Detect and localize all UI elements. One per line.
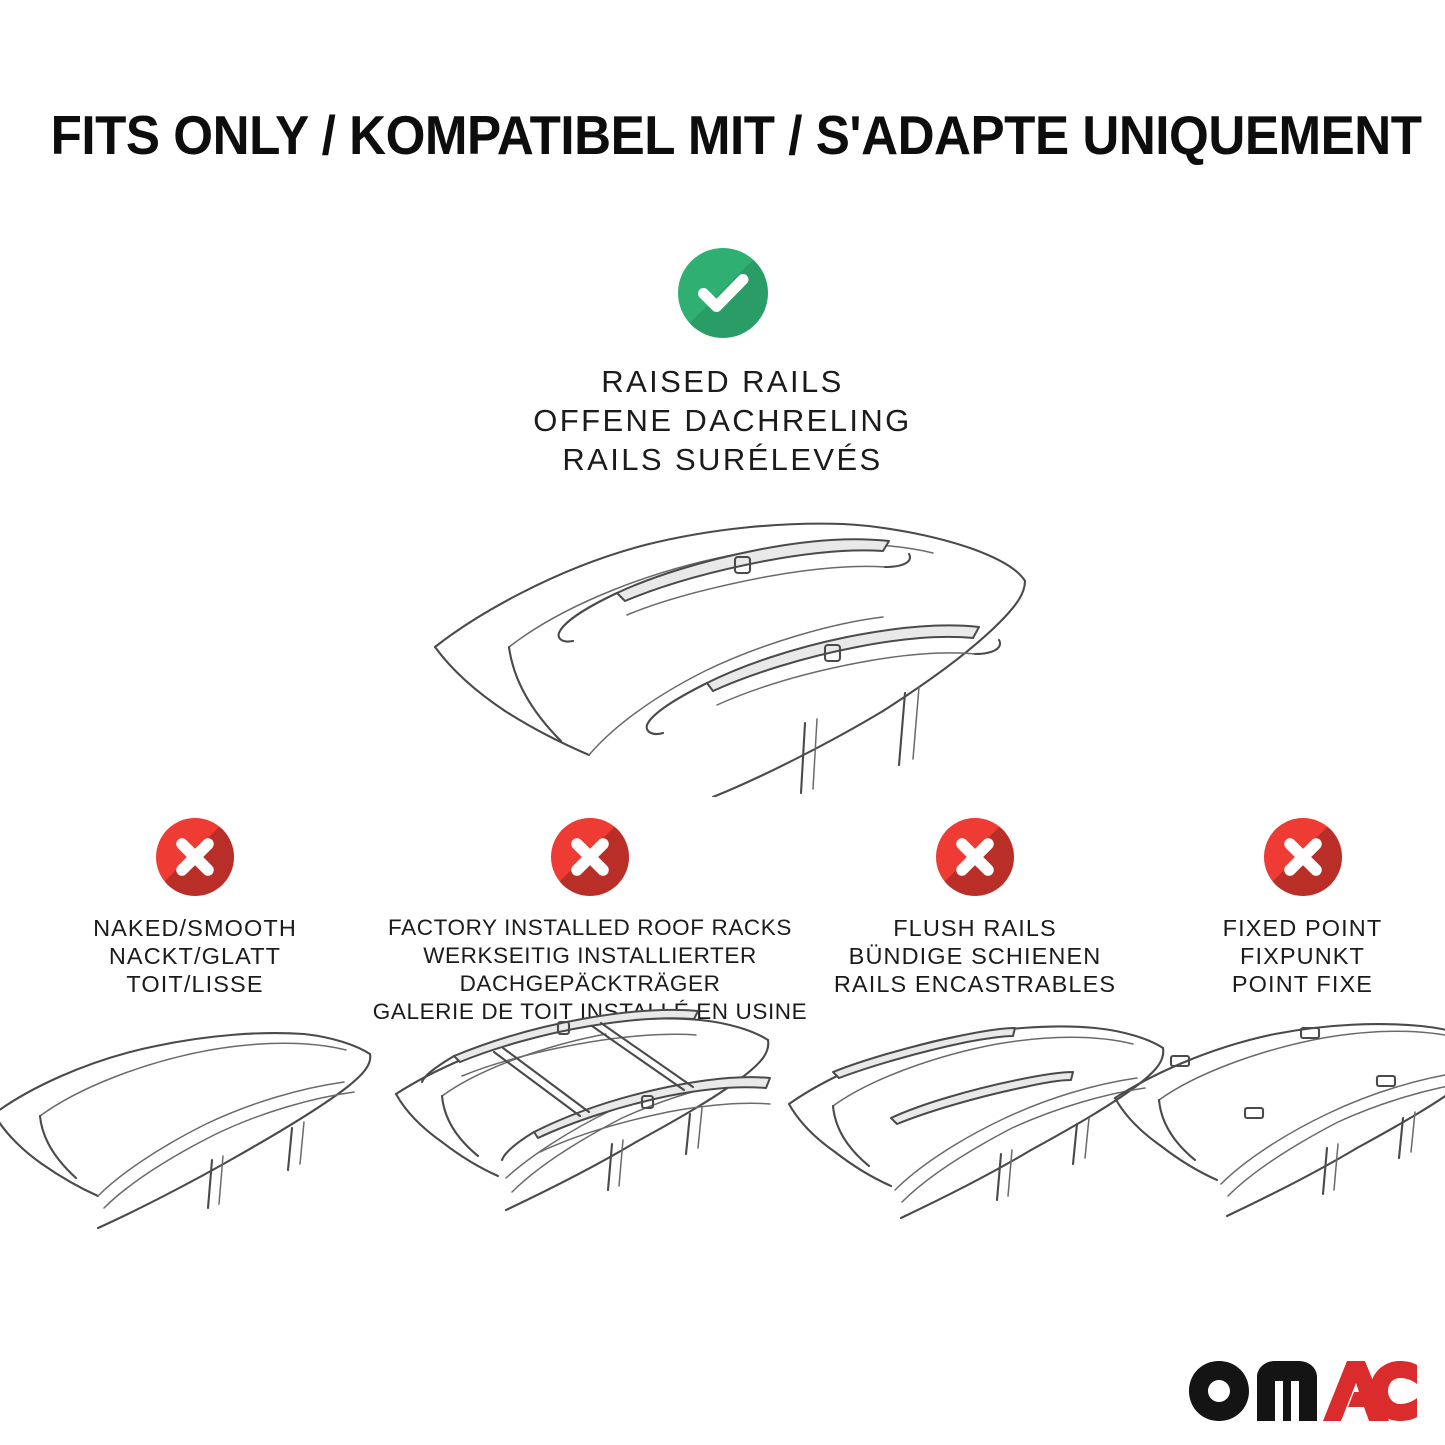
x-mark-glyph — [156, 818, 234, 896]
omac-logo-mark — [1187, 1359, 1419, 1423]
option-label-line: NAKED/SMOOTH — [93, 914, 297, 942]
check-mark-glyph — [678, 248, 768, 338]
option-label-line: NACKT/GLATT — [93, 942, 297, 970]
option-flush-rails: FLUSH RAILS BÜNDIGE SCHIENEN RAILS ENCAS… — [790, 818, 1160, 998]
option-naked-smooth: NAKED/SMOOTH NACKT/GLATT TOIT/LISSE — [0, 818, 390, 998]
option-label-line: FIXED POINT — [1223, 914, 1383, 942]
compatible-label-fr: RAILS SURÉLEVÉS — [533, 440, 911, 479]
compatible-label-de: OFFENE DACHRELING — [533, 401, 911, 440]
car-roof-factory-roof-racks-illustration — [390, 1006, 790, 1236]
car-roof-raised-rails-illustration — [413, 497, 1033, 797]
omac-logo — [1187, 1359, 1419, 1423]
x-circle-icon — [1264, 818, 1342, 896]
option-label-line: FIXPUNKT — [1223, 942, 1383, 970]
car-roof-naked-smooth-illustration — [0, 1018, 380, 1248]
x-mark-glyph — [551, 818, 629, 896]
option-label-line: WERKSEITIG INSTALLIERTER — [373, 942, 808, 970]
option-factory-roof-racks: FACTORY INSTALLED ROOF RACKS WERKSEITIG … — [390, 818, 790, 1026]
logo-letter-o — [1189, 1361, 1249, 1421]
option-label-line: BÜNDIGE SCHIENEN — [834, 942, 1116, 970]
option-label-line: TOIT/LISSE — [93, 970, 297, 998]
x-circle-icon — [156, 818, 234, 896]
option-label-line: RAILS ENCASTRABLES — [834, 970, 1116, 998]
car-roof-fixed-point-illustration — [1105, 1014, 1445, 1244]
compatible-section: RAISED RAILS OFFENE DACHRELING RAILS SUR… — [0, 248, 1445, 797]
x-circle-icon — [936, 818, 1014, 896]
option-label-line: FACTORY INSTALLED ROOF RACKS — [373, 914, 808, 942]
x-mark-glyph — [936, 818, 1014, 896]
x-circle-icon — [551, 818, 629, 896]
logo-letter-m — [1257, 1361, 1317, 1421]
option-label-line: FLUSH RAILS — [834, 914, 1116, 942]
compatible-label: RAISED RAILS OFFENE DACHRELING RAILS SUR… — [533, 362, 911, 479]
option-fixed-point: FIXED POINT FIXPUNKT POINT FIXE — [1160, 818, 1445, 998]
option-label-line: POINT FIXE — [1223, 970, 1383, 998]
option-label-line: DACHGEPÄCKTRÄGER — [373, 970, 808, 998]
check-circle-icon — [678, 248, 768, 338]
compatible-label-en: RAISED RAILS — [533, 362, 911, 401]
option-label: FIXED POINT FIXPUNKT POINT FIXE — [1223, 914, 1383, 998]
option-label: FLUSH RAILS BÜNDIGE SCHIENEN RAILS ENCAS… — [834, 914, 1116, 998]
option-label: NAKED/SMOOTH NACKT/GLATT TOIT/LISSE — [93, 914, 297, 998]
incompatible-section: NAKED/SMOOTH NACKT/GLATT TOIT/LISSE — [0, 818, 1445, 1026]
x-mark-glyph — [1264, 818, 1342, 896]
page-title: FITS ONLY / KOMPATIBEL MIT / S'ADAPTE UN… — [51, 104, 1395, 166]
